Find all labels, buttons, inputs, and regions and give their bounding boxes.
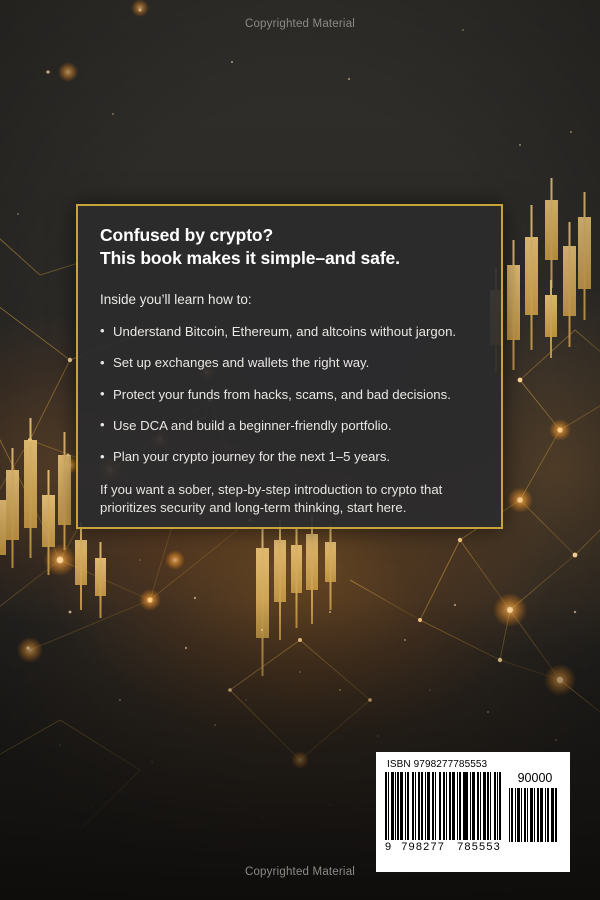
lead-in-text: Inside you’ll learn how to:	[100, 291, 479, 309]
isbn-barcode-block: ISBN 9798277785553	[376, 752, 570, 872]
copyright-notice-top: Copyrighted Material	[0, 18, 600, 30]
ean5-bars	[509, 788, 561, 842]
closing-paragraph: If you want a sober, step-by-step introd…	[100, 481, 479, 516]
addon-price-code: 90000	[509, 772, 561, 785]
list-item: Use DCA and build a beginner-friendly po…	[100, 418, 479, 435]
ean13-bars	[385, 772, 501, 840]
benefits-list: Understand Bitcoin, Ethereum, and altcoi…	[100, 324, 479, 466]
ean5-addon-barcode: 90000	[509, 772, 561, 842]
page-title: Confused by crypto? This book makes it s…	[100, 224, 479, 270]
list-item: Set up exchanges and wallets the right w…	[100, 355, 479, 372]
copyright-notice-bottom: Copyrighted Material	[0, 866, 600, 878]
headline-line-1: Confused by crypto?	[100, 225, 273, 245]
list-item: Protect your funds from hacks, scams, an…	[100, 387, 479, 404]
list-item: Plan your crypto journey for the next 1–…	[100, 449, 479, 466]
book-back-cover: Copyrighted Material Confused by crypto?…	[0, 0, 600, 900]
ean13-barcode: 9 798277 785553	[385, 772, 501, 853]
ean-group-right: 785553	[457, 841, 501, 853]
ean-digit-leading: 9	[385, 841, 394, 853]
ean-group-left: 798277	[401, 841, 445, 853]
blurb-panel: Confused by crypto? This book makes it s…	[76, 204, 503, 529]
list-item: Understand Bitcoin, Ethereum, and altcoi…	[100, 324, 479, 341]
isbn-label: ISBN 9798277785553	[387, 759, 561, 770]
headline-line-2: This book makes it simple–and safe.	[100, 247, 479, 270]
ean13-digits: 9 798277 785553	[385, 841, 501, 853]
